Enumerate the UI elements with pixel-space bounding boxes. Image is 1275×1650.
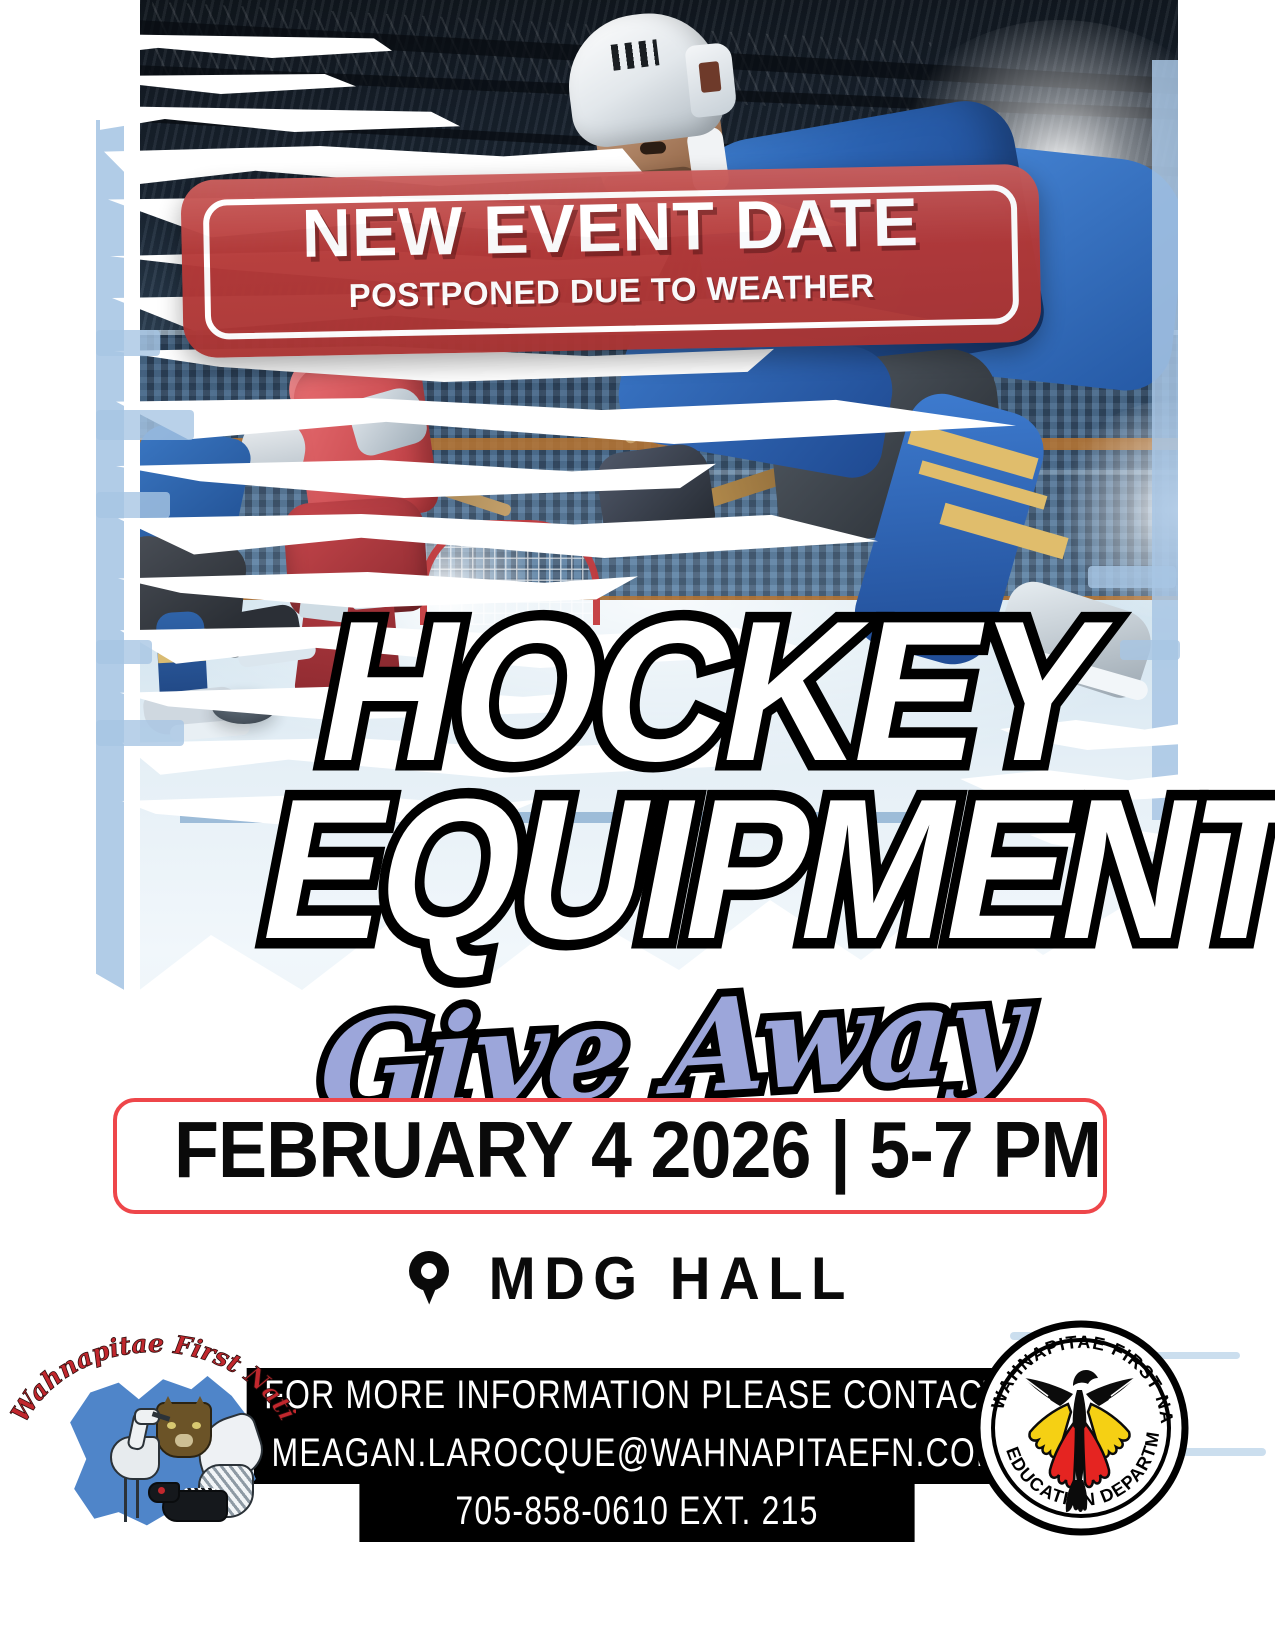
wahnapitae-first-nation-logo: Wahnapitae First Nation	[6, 1318, 296, 1553]
brush-accent	[96, 492, 170, 518]
title-line-hockey: HOCKEY	[308, 604, 1116, 780]
brush-accent	[96, 410, 194, 440]
venue-name: MDG HALL	[489, 1244, 854, 1313]
helmet-vents	[611, 39, 660, 70]
date-time-text: FEBRUARY 4 2026 | 5-7 PM	[51, 1104, 1224, 1196]
helmet-ear-hole	[698, 61, 721, 93]
title-line-equipment: EQUIPMENT	[250, 782, 1275, 958]
main-title-group: HOCKEY EQUIPMENT Give Away	[0, 596, 1275, 1076]
contact-email[interactable]: MEAGAN.LAROCQUE@WAHNAPITAEFN.COM	[254, 1426, 1021, 1484]
location-row: MDG HALL	[0, 1244, 1275, 1313]
logo-arc-label: Wahnapitae First Nation	[6, 1318, 296, 1427]
new-event-date-banner: NEW EVENT DATE POSTPONED DUE TO WEATHER	[180, 164, 1041, 358]
contact-phone[interactable]: 705-858-0610 EXT. 215	[360, 1484, 915, 1542]
logo-arc-text: Wahnapitae First Nation	[6, 1318, 296, 1448]
loon-bird	[146, 1476, 232, 1526]
banner-headline: NEW EVENT DATE	[181, 186, 1040, 270]
poster-canvas: NEW EVENT DATE POSTPONED DUE TO WEATHER …	[0, 0, 1275, 1650]
map-pin-icon	[409, 1251, 449, 1307]
main-player-eye	[640, 141, 667, 155]
banner-text-group: NEW EVENT DATE POSTPONED DUE TO WEATHER	[181, 186, 1041, 318]
brush-accent	[96, 330, 160, 356]
contact-intro: FOR MORE INFORMATION PLEASE CONTACT:	[247, 1368, 1028, 1426]
wahnapitae-education-department-seal: WAHNAPITAE FIRST NATION EDUCATION DEPART…	[972, 1312, 1190, 1544]
